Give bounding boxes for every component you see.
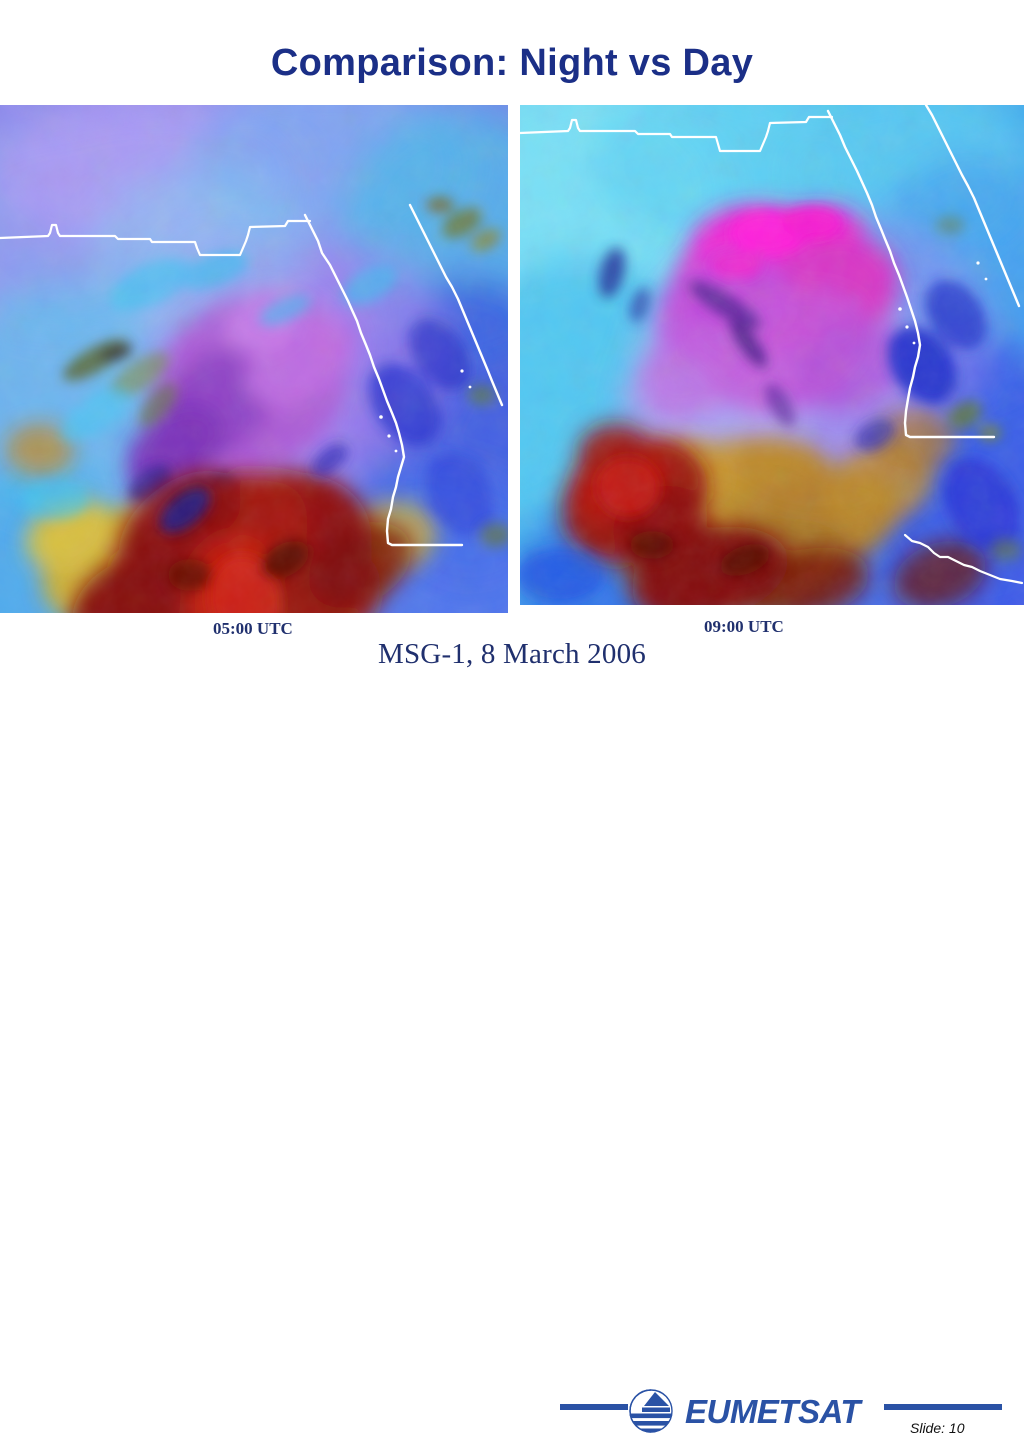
footer-rule-left xyxy=(560,1404,628,1410)
caption-day-time: 09:00 UTC xyxy=(704,617,784,637)
eumetsat-wordmark: EUMETSAT xyxy=(685,1395,860,1428)
slide-number: Slide: 10 xyxy=(910,1420,964,1436)
satellite-image-night xyxy=(0,105,508,613)
page-title: Comparison: Night vs Day xyxy=(0,42,1024,85)
eumetsat-logo: EUMETSAT xyxy=(625,1386,860,1436)
satellite-image-day xyxy=(520,105,1024,605)
footer-rule-right xyxy=(884,1404,1002,1410)
caption-night-time: 05:00 UTC xyxy=(213,619,293,639)
eumetsat-globe-icon xyxy=(625,1386,677,1436)
footer: EUMETSAT Slide: 10 xyxy=(0,690,1024,768)
caption-date: MSG-1, 8 March 2006 xyxy=(0,638,1024,671)
satellite-raster-night xyxy=(0,105,508,613)
satellite-raster-day xyxy=(520,105,1024,605)
